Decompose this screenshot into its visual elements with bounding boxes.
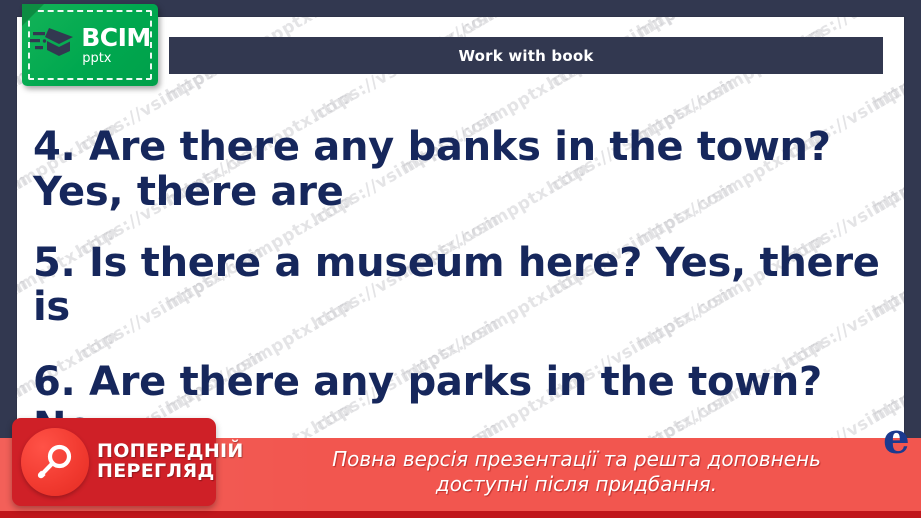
edge-partial-glyph: e (883, 418, 921, 458)
question-line-5: 5. Is there a museum here? Yes, there is (33, 241, 895, 331)
magnifier-icon (21, 428, 89, 496)
banner-message-line-2: доступні після придбання. (232, 472, 921, 497)
preview-badge[interactable]: ПОПЕРЕДНІЙ ПЕРЕГЛЯД (12, 418, 216, 506)
logo-corner-fold (22, 4, 44, 26)
banner-message: Повна версія презентації та решта доповн… (232, 447, 921, 497)
question-line-4-part-b: Yes, there are (33, 169, 344, 215)
banner-message-line-1: Повна версія презентації та решта доповн… (232, 447, 921, 472)
preview-badge-line-2: ПЕРЕГЛЯД (97, 462, 244, 482)
presentation-window: https://vsimpptx.comhttps://vsimpptx.com… (0, 0, 921, 518)
logo-name: ВСІМ (81, 25, 151, 50)
preview-badge-label: ПОПЕРЕДНІЙ ПЕРЕГЛЯД (97, 442, 244, 482)
slide-header-bar: Work with book (169, 37, 883, 74)
slide-title: Work with book (458, 47, 593, 65)
question-line-4-part-a: 4. Are there any banks in the town? (33, 124, 831, 170)
logo-subtitle: pptx (82, 52, 111, 65)
preview-badge-line-1: ПОПЕРЕДНІЙ (97, 442, 244, 462)
question-line-4: 4. Are there any banks in the town? Yes,… (33, 125, 895, 215)
graduation-cap-icon (29, 20, 77, 70)
vsimpptx-logo[interactable]: ВСІМ pptx (22, 4, 158, 86)
banner-bottom-strip (0, 511, 921, 518)
